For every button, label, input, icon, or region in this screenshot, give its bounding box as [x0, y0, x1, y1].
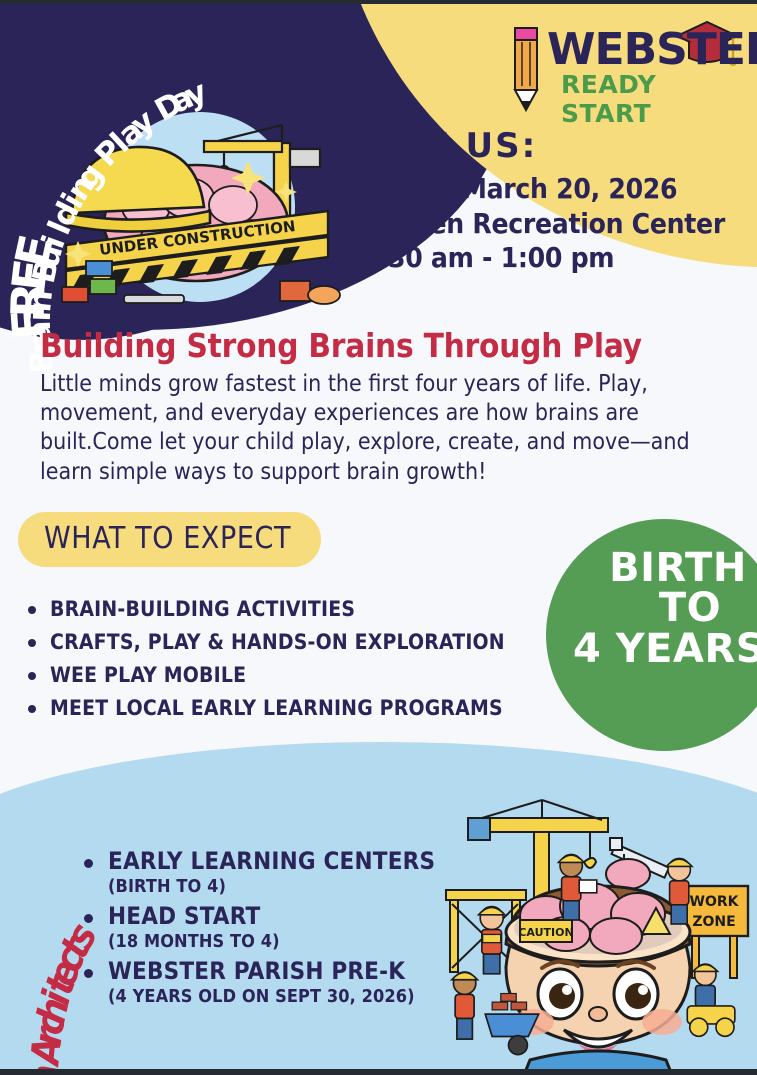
architect-age-range: (18 MONTHS TO 4) — [108, 931, 435, 953]
event-venue: Minden Recreation Center — [361, 207, 725, 241]
age-badge-line-3: 4 YEARS — [546, 628, 757, 670]
intro-paragraph: Little minds grow fastest in the first f… — [40, 370, 730, 487]
flyer-canvas: UNDER CONSTRUCTION — [0, 0, 757, 1075]
pencil-icon — [515, 28, 537, 110]
brain-lift-icon — [606, 859, 650, 889]
join-us-block: JOIN US: Friday, March 20, 2026 Minden R… — [361, 128, 725, 275]
age-badge-line-2: TO — [546, 588, 757, 628]
event-date: Friday, March 20, 2026 — [361, 172, 725, 206]
architect-name: HEAD START — [108, 903, 435, 931]
bulldozer-icon — [687, 964, 735, 1036]
join-us-title: JOIN US: — [361, 128, 725, 165]
event-time: 9:30 am - 1:00 pm — [361, 241, 725, 275]
page-title: Building Strong Brains Through Play — [40, 326, 642, 365]
svg-text:CAUTION: CAUTION — [518, 926, 573, 939]
bottom-edge-bar — [0, 1069, 757, 1075]
what-to-expect-item: BRAIN-BUILDING ACTIVITIES — [24, 597, 505, 621]
top-edge-bar — [0, 0, 757, 4]
child-with-open-brain-icon: CAUTION — [506, 883, 690, 1075]
arched-headline: FREE Brain Building Play Day — [0, 6, 410, 221]
architect-age-range: (4 YEARS OLD ON SEPT 30, 2026) — [108, 986, 435, 1008]
list-item: EARLY LEARNING CENTERS(BIRTH TO 4) — [78, 848, 435, 897]
what-to-expect-label: WHAT TO EXPECT — [18, 512, 321, 567]
webster-ready-start-logo: WEBSTER READY START — [499, 18, 739, 122]
what-to-expect-text: WHAT TO EXPECT — [44, 521, 291, 556]
caution-sign: CAUTION — [518, 920, 573, 942]
bottom-construction-child-illustration: WORK ZONE CAUTION — [438, 782, 757, 1075]
svg-text:ZONE: ZONE — [692, 914, 735, 930]
brain-architects-list: EARLY LEARNING CENTERS(BIRTH TO 4)HEAD S… — [78, 848, 435, 1014]
list-item: WEBSTER PARISH PRE-K(4 YEARS OLD ON SEPT… — [78, 958, 435, 1007]
construction-worker-icon — [479, 907, 505, 974]
architect-name: WEBSTER PARISH PRE-K — [108, 958, 435, 986]
logo-brand-text: WEBSTER — [547, 24, 757, 75]
svg-text:WORK: WORK — [690, 894, 740, 910]
list-item: HEAD START(18 MONTHS TO 4) — [78, 903, 435, 952]
what-to-expect-item: CRAFTS, PLAY & HANDS-ON EXPLORATION — [24, 630, 505, 654]
age-badge-text: BIRTH TO 4 YEARS — [546, 548, 757, 670]
architect-age-range: (BIRTH TO 4) — [108, 876, 435, 898]
logo-tagline-text: READY START — [561, 70, 739, 128]
age-badge-line-1: BIRTH — [546, 548, 757, 588]
what-to-expect-list: BRAIN-BUILDING ACTIVITIESCRAFTS, PLAY & … — [24, 597, 505, 729]
architect-name: EARLY LEARNING CENTERS — [108, 848, 435, 876]
what-to-expect-item: WEE PLAY MOBILE — [24, 663, 505, 687]
what-to-expect-item: MEET LOCAL EARLY LEARNING PROGRAMS — [24, 696, 505, 720]
